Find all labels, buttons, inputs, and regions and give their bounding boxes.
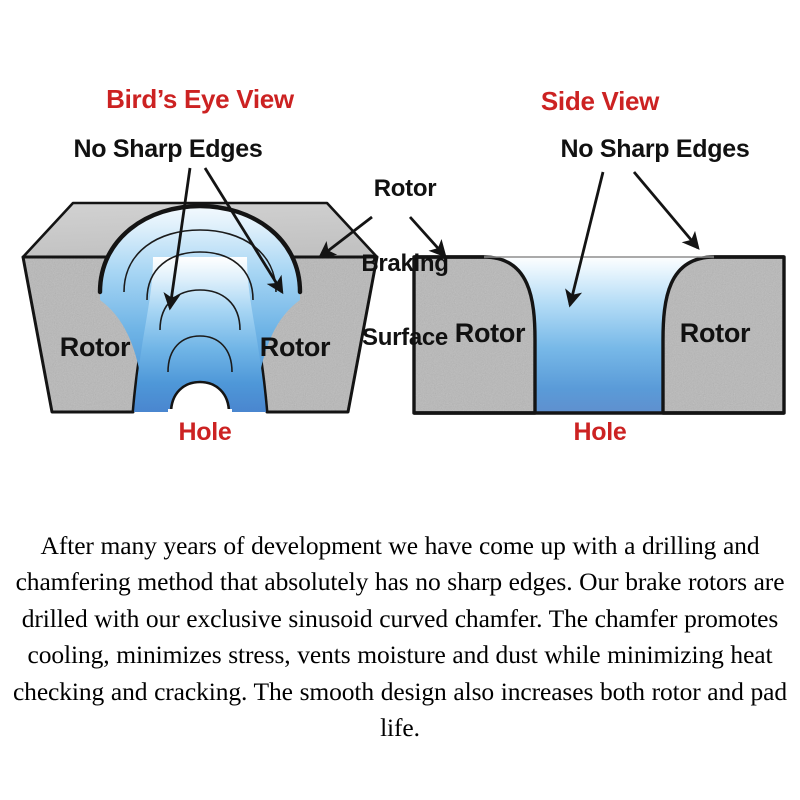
callout-rotor-braking-surface-line1: Rotor	[330, 177, 480, 202]
callout-no-sharp-edges-right: No Sharp Edges	[505, 137, 800, 162]
description-paragraph: After many years of development we have …	[10, 528, 790, 747]
page-title-side-view: Side View	[400, 88, 800, 114]
rotor-chamfer-figure: Bird’s Eye View Side View No Sharp Edges…	[0, 0, 800, 800]
callout-rotor-braking-surface-line2: Braking	[330, 252, 480, 277]
hole-label-birds-eye: Hole	[140, 420, 270, 445]
hole-label-side-view: Hole	[535, 420, 665, 445]
birds-eye-view-block	[23, 195, 377, 420]
callout-no-sharp-edges-left: No Sharp Edges	[18, 137, 318, 162]
rotor-label-birds-eye-left: Rotor	[30, 334, 160, 361]
rotor-label-side-view-right: Rotor	[645, 320, 785, 347]
rotor-label-birds-eye-right: Rotor	[230, 334, 360, 361]
rotor-label-side-view-left: Rotor	[420, 320, 560, 347]
arrow-no-sharp-edges-sv-right	[634, 172, 698, 248]
page-title-birds-eye-view: Bird’s Eye View	[0, 86, 400, 112]
